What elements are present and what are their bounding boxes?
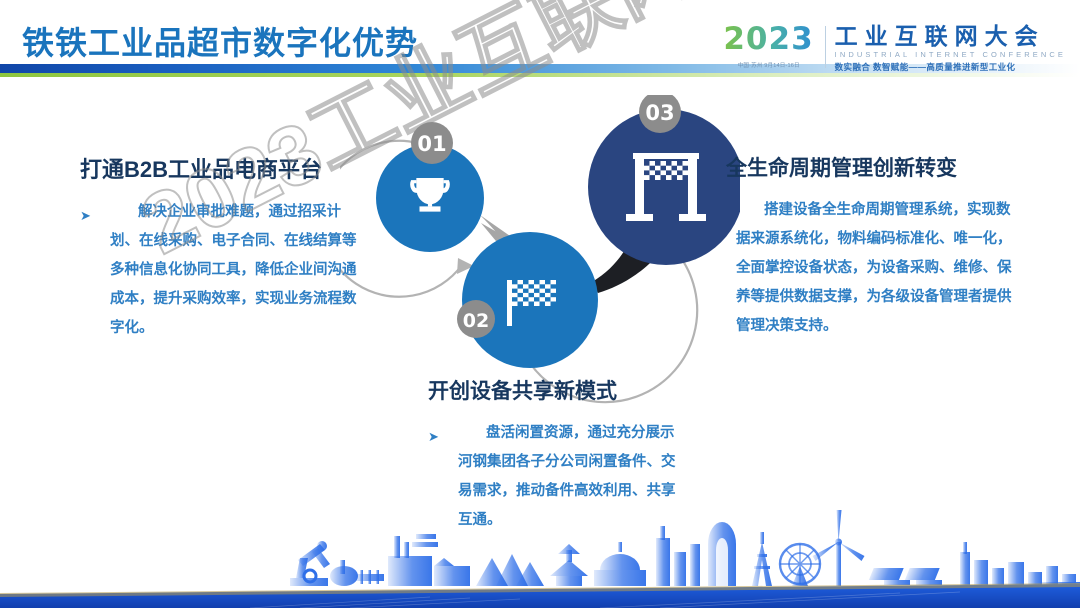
- block-right-paragraph: 搭建设备全生命周期管理系统，实现数据来源系统化，物料编码标准化、唯一化，全面掌控…: [726, 196, 1016, 341]
- block-right-heading: 全生命周期管理创新转变: [726, 152, 1016, 182]
- factory-icon: [330, 560, 384, 586]
- bullet-icon: ➤: [428, 422, 439, 451]
- logo-main-title: 工业互联网大会: [835, 24, 1066, 48]
- badge-01: 01: [411, 122, 453, 164]
- circles-diagram: 01 02 03: [340, 95, 740, 415]
- conference-logo: 2023 中国·苏州 9月14日-16日 工业互联网大会 INDUSTRIAL …: [723, 24, 1066, 73]
- header-rule-green: [0, 73, 1080, 77]
- pagoda-icon: [476, 554, 544, 586]
- solar-panel-icon: [869, 568, 942, 585]
- content-block-left: 打通B2B工业品电商平台 ➤ 解决企业审批难题，通过招采计划、在线采购、电子合同…: [80, 152, 360, 343]
- tower-icon: [708, 522, 736, 586]
- badge-03-label: 03: [645, 101, 674, 125]
- logo-place-date: 中国·苏州 9月14日-16日: [738, 60, 800, 68]
- badge-02-label: 02: [463, 310, 489, 332]
- logo-english-title: INDUSTRIAL INTERNET CONFERENCE: [835, 50, 1066, 59]
- wind-turbine-icon: [813, 510, 865, 586]
- logo-year: 2023: [723, 24, 813, 55]
- logo-year-group: 2023 中国·苏州 9月14日-16日: [723, 24, 815, 69]
- content-block-bottom: 开创设备共享新模式 ➤ 盘活闲置资源，通过充分展示河钢集团各子分公司闲置备件、交…: [428, 375, 688, 535]
- bullet-icon: ➤: [80, 201, 91, 230]
- badge-02: 02: [457, 300, 495, 338]
- block-left-heading: 打通B2B工业品电商平台: [80, 152, 360, 184]
- ferris-wheel-icon: [780, 544, 820, 586]
- content-block-right: 全生命周期管理创新转变 搭建设备全生命周期管理系统，实现数据来源系统化，物料编码…: [726, 152, 1016, 341]
- page-title: 铁铁工业品超市数字化优势: [22, 18, 418, 64]
- block-left-body: ➤ 解决企业审批难题，通过招采计划、在线采购、电子合同、在线结算等多种信息化协同…: [80, 198, 360, 343]
- badge-01-label: 01: [417, 132, 446, 156]
- tower-icon: [960, 542, 1076, 586]
- tower-icon: [594, 542, 646, 586]
- pagoda-icon: [550, 544, 588, 586]
- tower-icon: [656, 526, 700, 586]
- slide-root: 铁铁工业品超市数字化优势 2023 中国·苏州 9月14日-16日 工业互联网大…: [0, 0, 1080, 608]
- logo-text-group: 工业互联网大会 INDUSTRIAL INTERNET CONFERENCE 数…: [835, 24, 1066, 73]
- block-left-paragraph: 解决企业审批难题，通过招采计划、在线采购、电子合同、在线结算等多种信息化协同工具…: [80, 198, 360, 343]
- block-right-body: 搭建设备全生命周期管理系统，实现数据来源系统化，物料编码标准化、唯一化，全面掌控…: [726, 196, 1016, 341]
- logo-divider: [825, 26, 826, 68]
- block-bottom-body: ➤ 盘活闲置资源，通过充分展示河钢集团各子分公司闲置备件、交易需求，推动备件高效…: [428, 419, 688, 535]
- factory-icon: [388, 534, 470, 586]
- tower-icon: [752, 532, 772, 586]
- robot-arm-icon: [290, 541, 330, 586]
- block-bottom-paragraph: 盘活闲置资源，通过充分展示河钢集团各子分公司闲置备件、交易需求，推动备件高效利用…: [428, 419, 688, 535]
- block-bottom-heading: 开创设备共享新模式: [428, 375, 688, 405]
- logo-tagline: 数实融合 数智赋能——高质量推进新型工业化: [835, 61, 1066, 73]
